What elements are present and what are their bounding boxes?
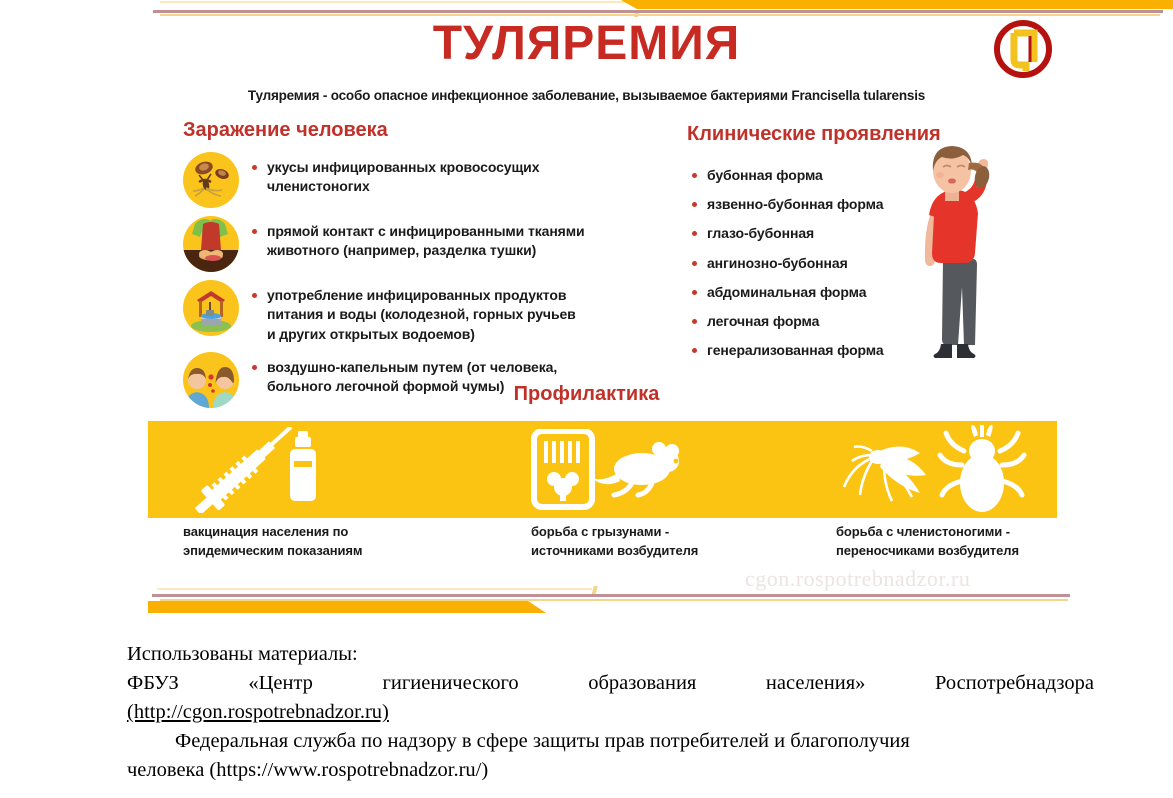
cgon-logo-icon: [992, 18, 1054, 80]
bullet-icon: [252, 229, 257, 234]
list-item-label: употребление инфицированных продуктов пи…: [267, 286, 576, 344]
list-item-label: легочная форма: [707, 312, 819, 330]
list-item: язвенно-бубонная форма: [692, 195, 922, 213]
top-gold-thin-line-upper: [160, 1, 630, 3]
butchering-hands-icon: [183, 216, 239, 272]
bullet-icon: [252, 165, 257, 170]
mosquito-tick-white-icon: [830, 425, 1030, 517]
footer-link-cgon[interactable]: (http://cgon.rospotrebnadzor.ru): [127, 701, 389, 723]
mousetrap-mouse-icon: [526, 429, 716, 511]
list-item: укусы инфицированных кровососущих членис…: [183, 150, 653, 208]
list-item: генерализованная форма: [692, 341, 922, 359]
footer-attribution: Использованы материалы: ФБУЗ «Центр гиги…: [127, 640, 1094, 786]
list-item-label: язвенно-бубонная форма: [707, 195, 883, 213]
top-gold-band: [637, 0, 1173, 9]
footer-line-4: человека (https://www.rospotrebnadzor.ru…: [127, 756, 1094, 785]
page-subtitle: Туляремия - особо опасное инфекционное з…: [0, 88, 1173, 103]
footer-line-1: Использованы материалы:: [127, 640, 1094, 669]
sick-woman-illustration: [899, 141, 995, 373]
bullet-icon: [692, 348, 697, 353]
infection-list: укусы инфицированных кровососущих членис…: [183, 150, 653, 414]
bullet-icon: [692, 173, 697, 178]
list-item-label: ангинозно-бубонная: [707, 254, 848, 272]
bullet-icon: [692, 261, 697, 266]
clinical-list: бубонная форма язвенно-бубонная форма гл…: [692, 166, 922, 370]
syringe-vial-icon: [172, 427, 352, 513]
list-item-label: глазо-бубонная: [707, 224, 814, 242]
prophylaxis-label: вакцинация населения по эпидемическим по…: [183, 523, 362, 561]
bottom-gold-thin-line-upper: [157, 588, 592, 590]
prophylaxis-band: [148, 421, 1057, 518]
list-item-label: генерализованная форма: [707, 341, 884, 359]
bottom-gold-band: [148, 601, 528, 613]
footer-line-2: ФБУЗ «Центр гигиенического образования н…: [127, 669, 1094, 698]
bullet-icon: [252, 293, 257, 298]
list-item-label: абдоминальная форма: [707, 283, 866, 301]
list-item: бубонная форма: [692, 166, 922, 184]
bullet-icon: [252, 365, 257, 370]
infographic-page: ТУЛЯРЕМИЯ Туляремия - особо опасное инфе…: [0, 0, 1173, 798]
list-item-label: бубонная форма: [707, 166, 823, 184]
footer-line-3: Федеральная служба по надзору в сфере за…: [127, 727, 1094, 756]
bullet-icon: [692, 319, 697, 324]
bullet-icon: [692, 202, 697, 207]
mosquito-tick-icon: [183, 152, 239, 208]
list-item: глазо-бубонная: [692, 224, 922, 242]
bullet-icon: [692, 290, 697, 295]
list-item-label: укусы инфицированных кровососущих членис…: [267, 158, 539, 197]
list-item: употребление инфицированных продуктов пи…: [183, 278, 653, 344]
top-rose-line: [153, 10, 1163, 13]
bottom-rose-line: [152, 594, 1070, 597]
list-item: абдоминальная форма: [692, 283, 922, 301]
bottom-decoration: [0, 585, 1173, 621]
prophylaxis-label: борьба с грызунами - источниками возбуди…: [531, 523, 698, 561]
list-item: прямой контакт с инфицированными тканями…: [183, 214, 653, 272]
well-water-icon: [183, 280, 239, 336]
list-item: легочная форма: [692, 312, 922, 330]
bullet-icon: [692, 231, 697, 236]
list-item: ангинозно-бубонная: [692, 254, 922, 272]
infection-heading: Заражение человека: [183, 119, 388, 142]
prophylaxis-heading: Профилактика: [0, 383, 1173, 406]
list-item-label: прямой контакт с инфицированными тканями…: [267, 222, 585, 261]
prophylaxis-label: борьба с членистоногими - переносчиками …: [836, 523, 1019, 561]
